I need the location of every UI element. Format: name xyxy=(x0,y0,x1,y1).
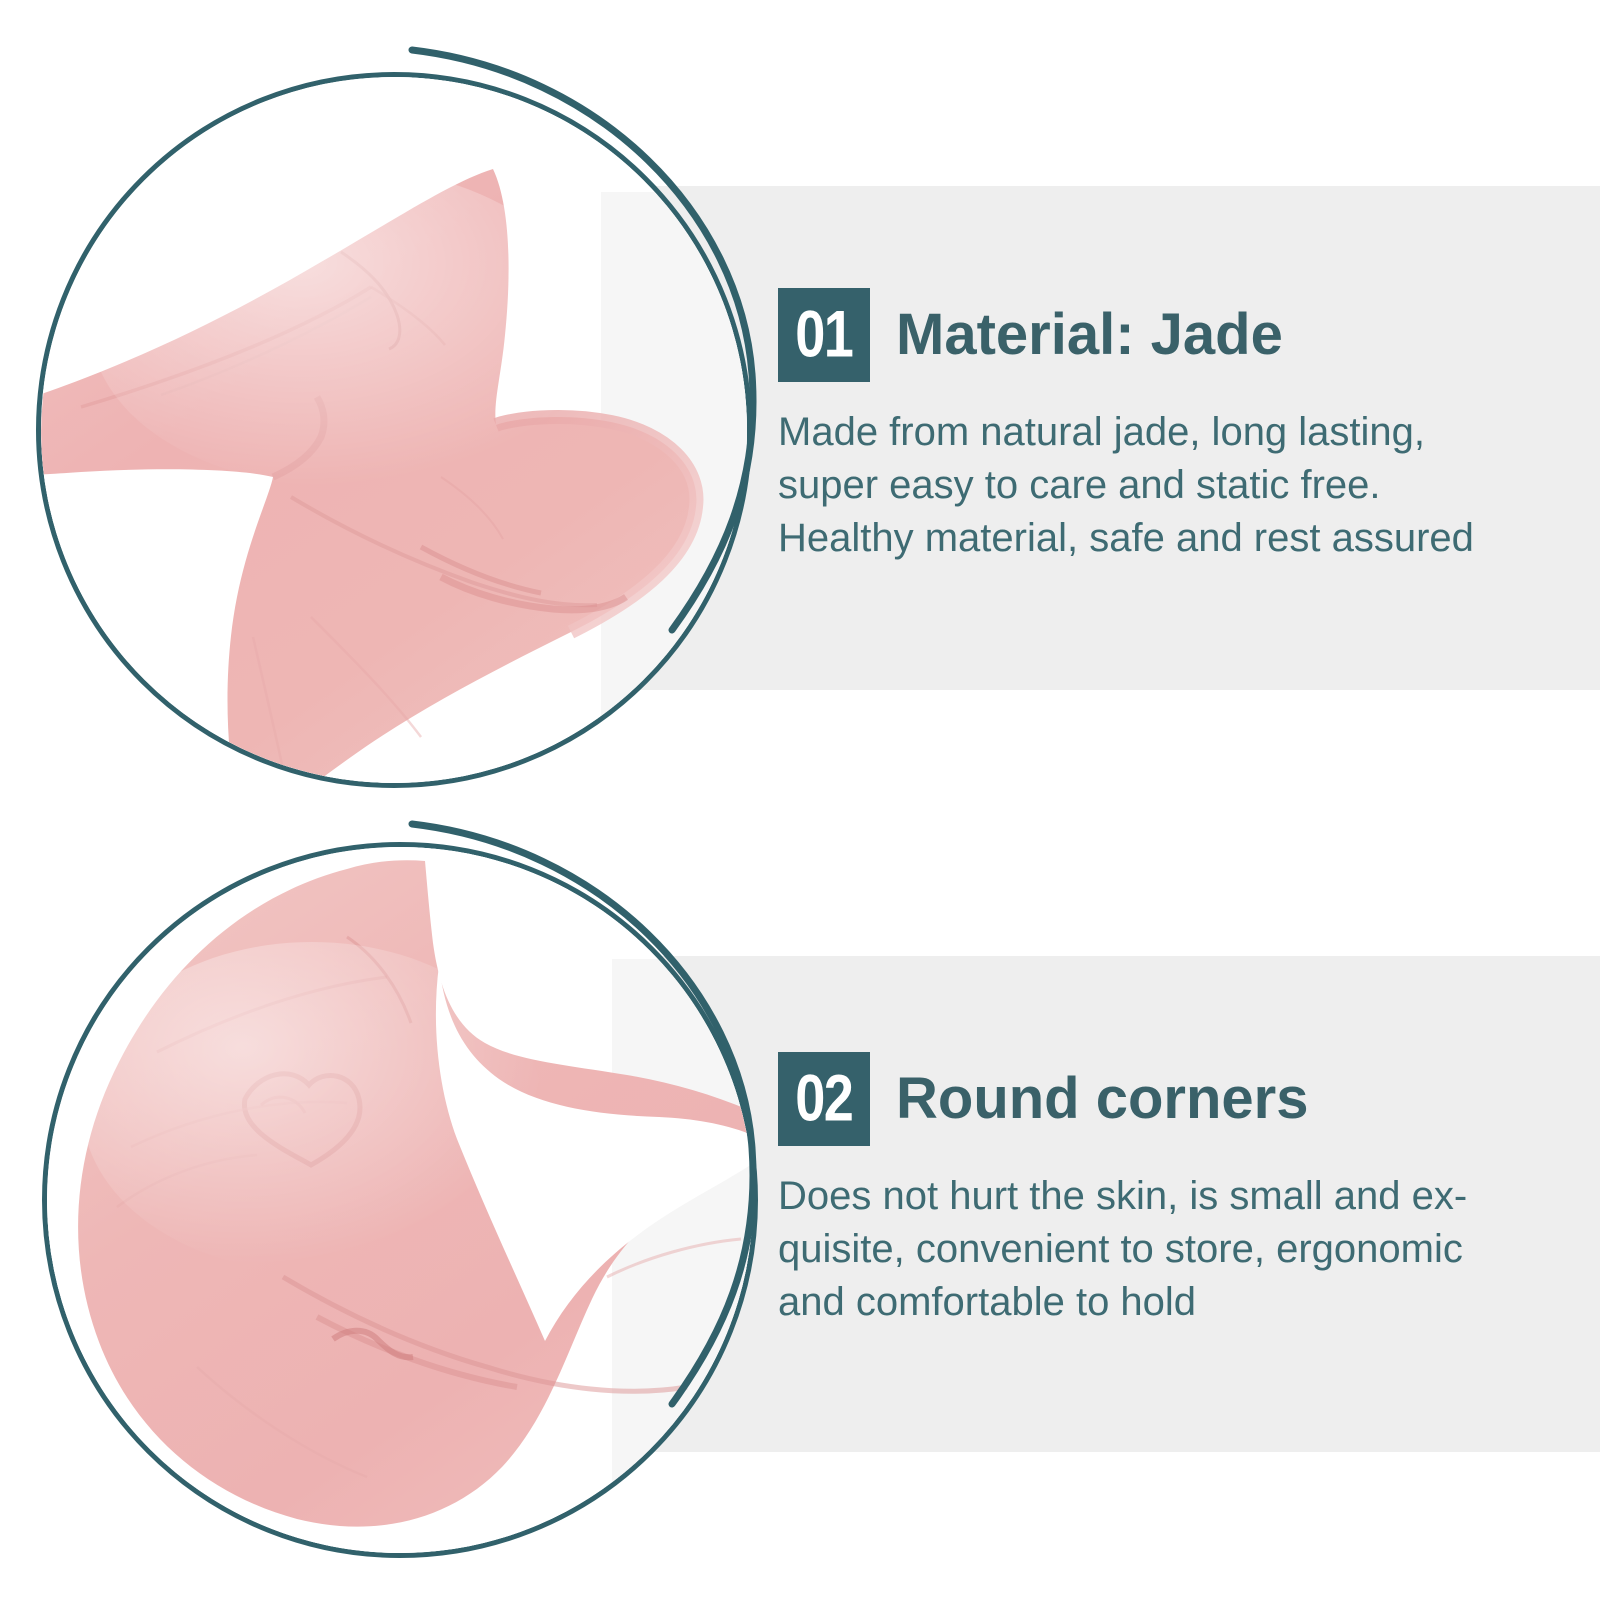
feature-number-01: 01 xyxy=(778,301,870,367)
feature-copy-02: 02 Round corners Does not hurt the skin,… xyxy=(778,1052,1578,1328)
product-feature-infographic: 01 Material: Jade Made from natural jade… xyxy=(0,0,1600,1600)
feature-title-02: Round corners xyxy=(896,1069,1309,1130)
feature-number-badge-02: 02 xyxy=(778,1052,870,1146)
gua-sha-photo-crescent xyxy=(47,847,753,1553)
gua-sha-photo-heart xyxy=(41,77,747,783)
feature-image-02 xyxy=(42,842,758,1558)
gua-sha-heart-illustration xyxy=(41,77,752,788)
feature-body-01: Made from natural jade, long lasting, su… xyxy=(778,406,1568,564)
feature-number-02: 02 xyxy=(778,1065,870,1131)
feature-body-line: quisite, convenient to store, ergonomic xyxy=(778,1223,1568,1276)
feature-title-01: Material: Jade xyxy=(896,305,1283,366)
gua-sha-crescent-illustration xyxy=(47,847,758,1558)
feature-body-line: Made from natural jade, long lasting, xyxy=(778,406,1568,459)
feature-number-badge-01: 01 xyxy=(778,288,870,382)
feature-body-line: Healthy material, safe and rest assured xyxy=(778,512,1568,565)
feature-body-line: super easy to care and static free. xyxy=(778,459,1568,512)
feature-body-line: and comfortable to hold xyxy=(778,1276,1568,1329)
feature-body-02: Does not hurt the skin, is small and ex-… xyxy=(778,1170,1568,1328)
feature-heading-row-02: 02 Round corners xyxy=(778,1052,1578,1146)
feature-body-line: Does not hurt the skin, is small and ex- xyxy=(778,1170,1568,1223)
feature-image-01 xyxy=(36,72,752,788)
feature-heading-row-01: 01 Material: Jade xyxy=(778,288,1578,382)
feature-copy-01: 01 Material: Jade Made from natural jade… xyxy=(778,288,1578,564)
